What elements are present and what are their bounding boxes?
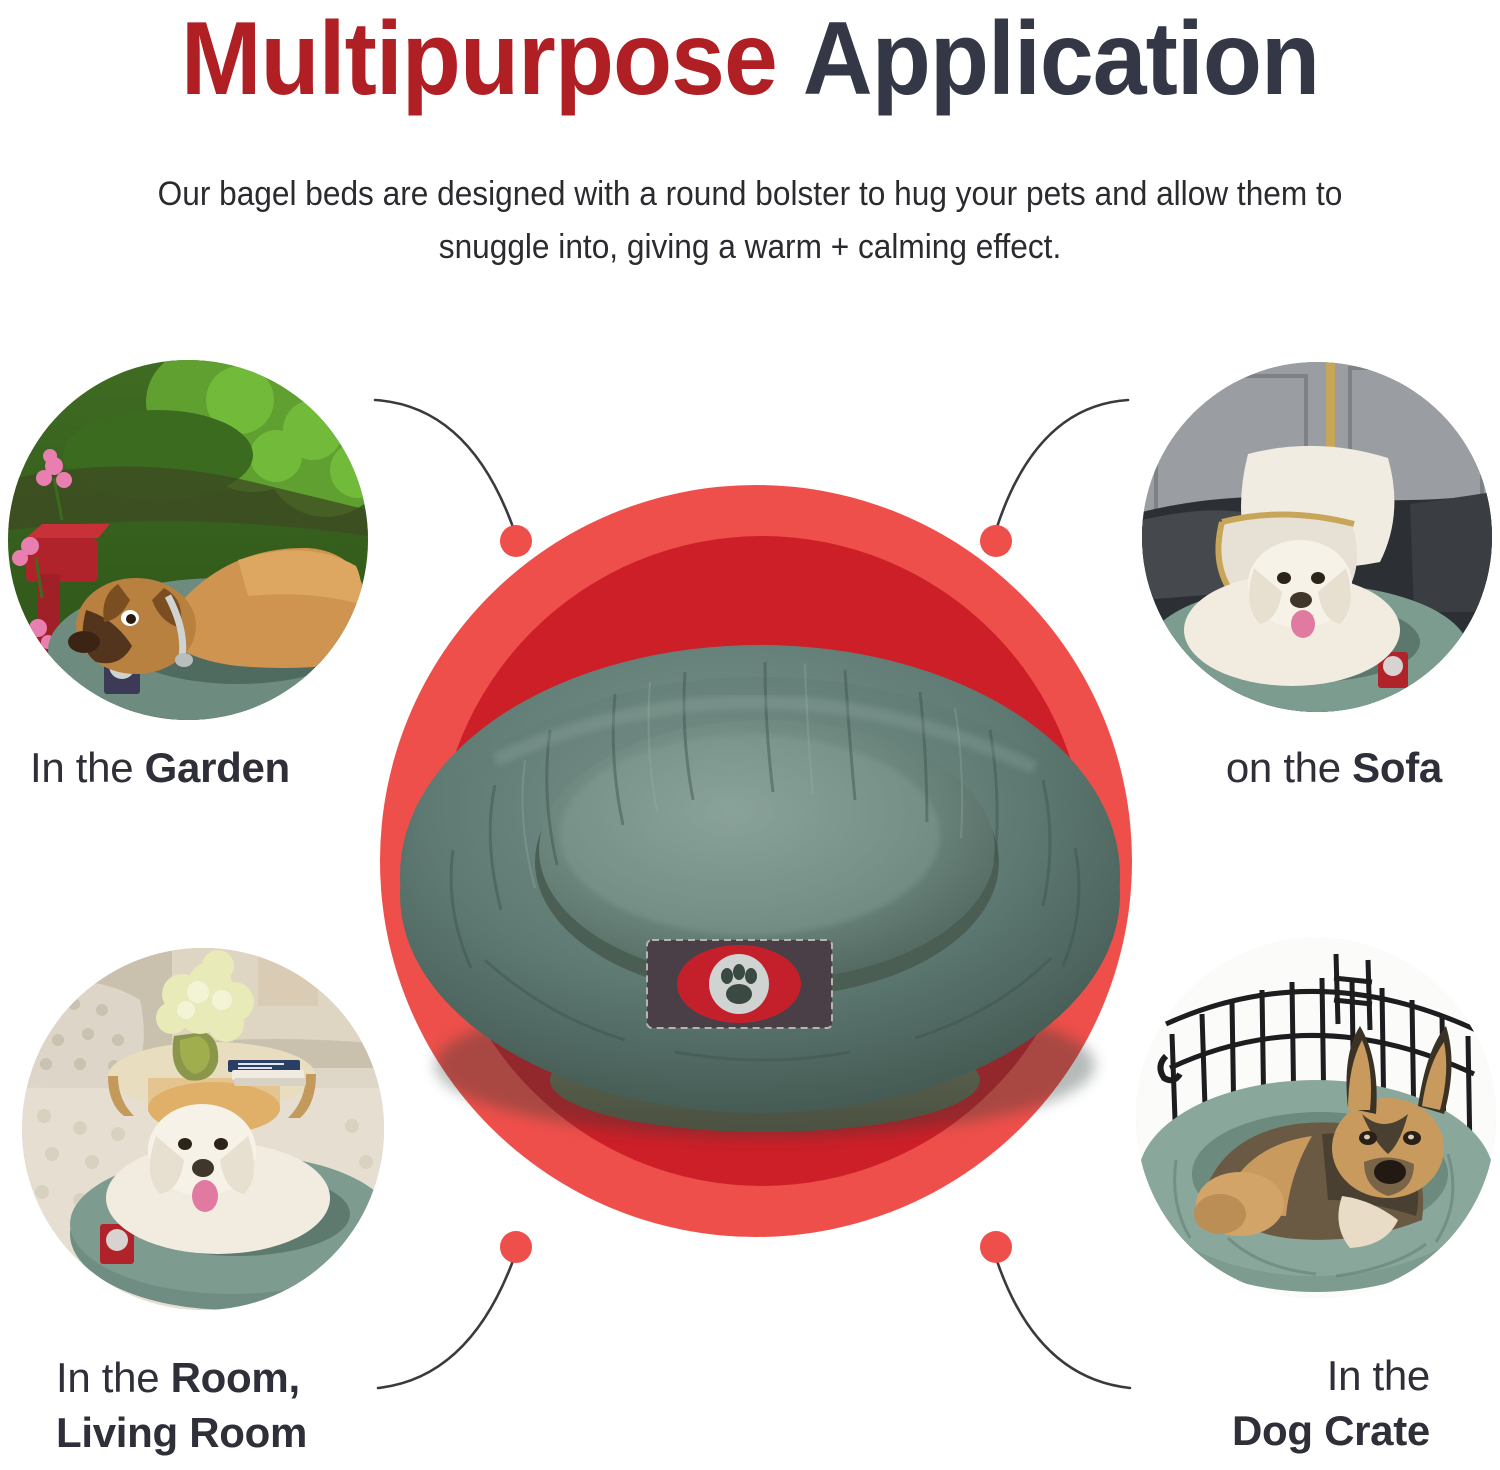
infographic-canvas: Multipurpose Application Our bagel beds … — [0, 0, 1500, 1470]
callout-label-living-room: In the Room, Living Room — [56, 1350, 307, 1461]
connector-dot-sofa — [980, 525, 1012, 557]
title-part-secondary: Application — [803, 1, 1319, 117]
connector-dot-living-room — [500, 1231, 532, 1263]
callout-label-sofa-emphasis: Sofa — [1352, 744, 1442, 791]
callout-thumbnail-living-room[interactable] — [22, 948, 384, 1310]
connector-dot-garden — [500, 525, 532, 557]
page-subtitle: Our bagel beds are designed with a round… — [85, 168, 1415, 273]
brand-tag — [647, 940, 832, 1028]
connector-dot-dog-crate — [980, 1231, 1012, 1263]
page-title: Multipurpose Application — [53, 4, 1448, 114]
connector-line-garden — [375, 400, 514, 530]
callout-label-dog-crate-line2-emphasis: Dog Crate — [1232, 1407, 1430, 1454]
callout-label-living-room-line2: Living Room — [56, 1405, 307, 1460]
callout-thumbnail-sofa[interactable] — [1142, 362, 1492, 712]
subtitle-line-1: Our bagel beds are designed with a round… — [85, 168, 1415, 221]
subtitle-line-2: snuggle into, giving a warm + calming ef… — [85, 221, 1415, 274]
callout-label-living-room-line2-emphasis: Living Room — [56, 1409, 307, 1456]
callout-label-dog-crate-line2: Dog Crate — [1232, 1403, 1430, 1458]
callout-thumbnail-garden[interactable] — [8, 360, 368, 720]
callout-label-dog-crate: In the Dog Crate — [1232, 1348, 1430, 1459]
callout-label-dog-crate-line1: In the — [1232, 1348, 1430, 1403]
callout-label-living-room-line1: In the Room, — [56, 1350, 307, 1405]
callout-label-garden: In the Garden — [30, 740, 290, 795]
callout-label-garden-prefix: In the — [30, 744, 145, 791]
callout-label-sofa: on the Sofa — [1226, 740, 1442, 795]
callout-label-dog-crate-prefix: In the — [1327, 1352, 1430, 1399]
callout-label-sofa-prefix: on the — [1226, 744, 1352, 791]
callout-label-garden-emphasis: Garden — [145, 744, 290, 791]
callout-thumbnail-dog-crate[interactable] — [1136, 938, 1496, 1298]
hero-product-image — [375, 610, 1145, 1170]
callout-label-living-room-prefix: In the — [56, 1354, 171, 1401]
callout-label-living-room-emphasis: Room, — [171, 1354, 300, 1401]
title-part-primary: Multipurpose — [181, 1, 777, 117]
